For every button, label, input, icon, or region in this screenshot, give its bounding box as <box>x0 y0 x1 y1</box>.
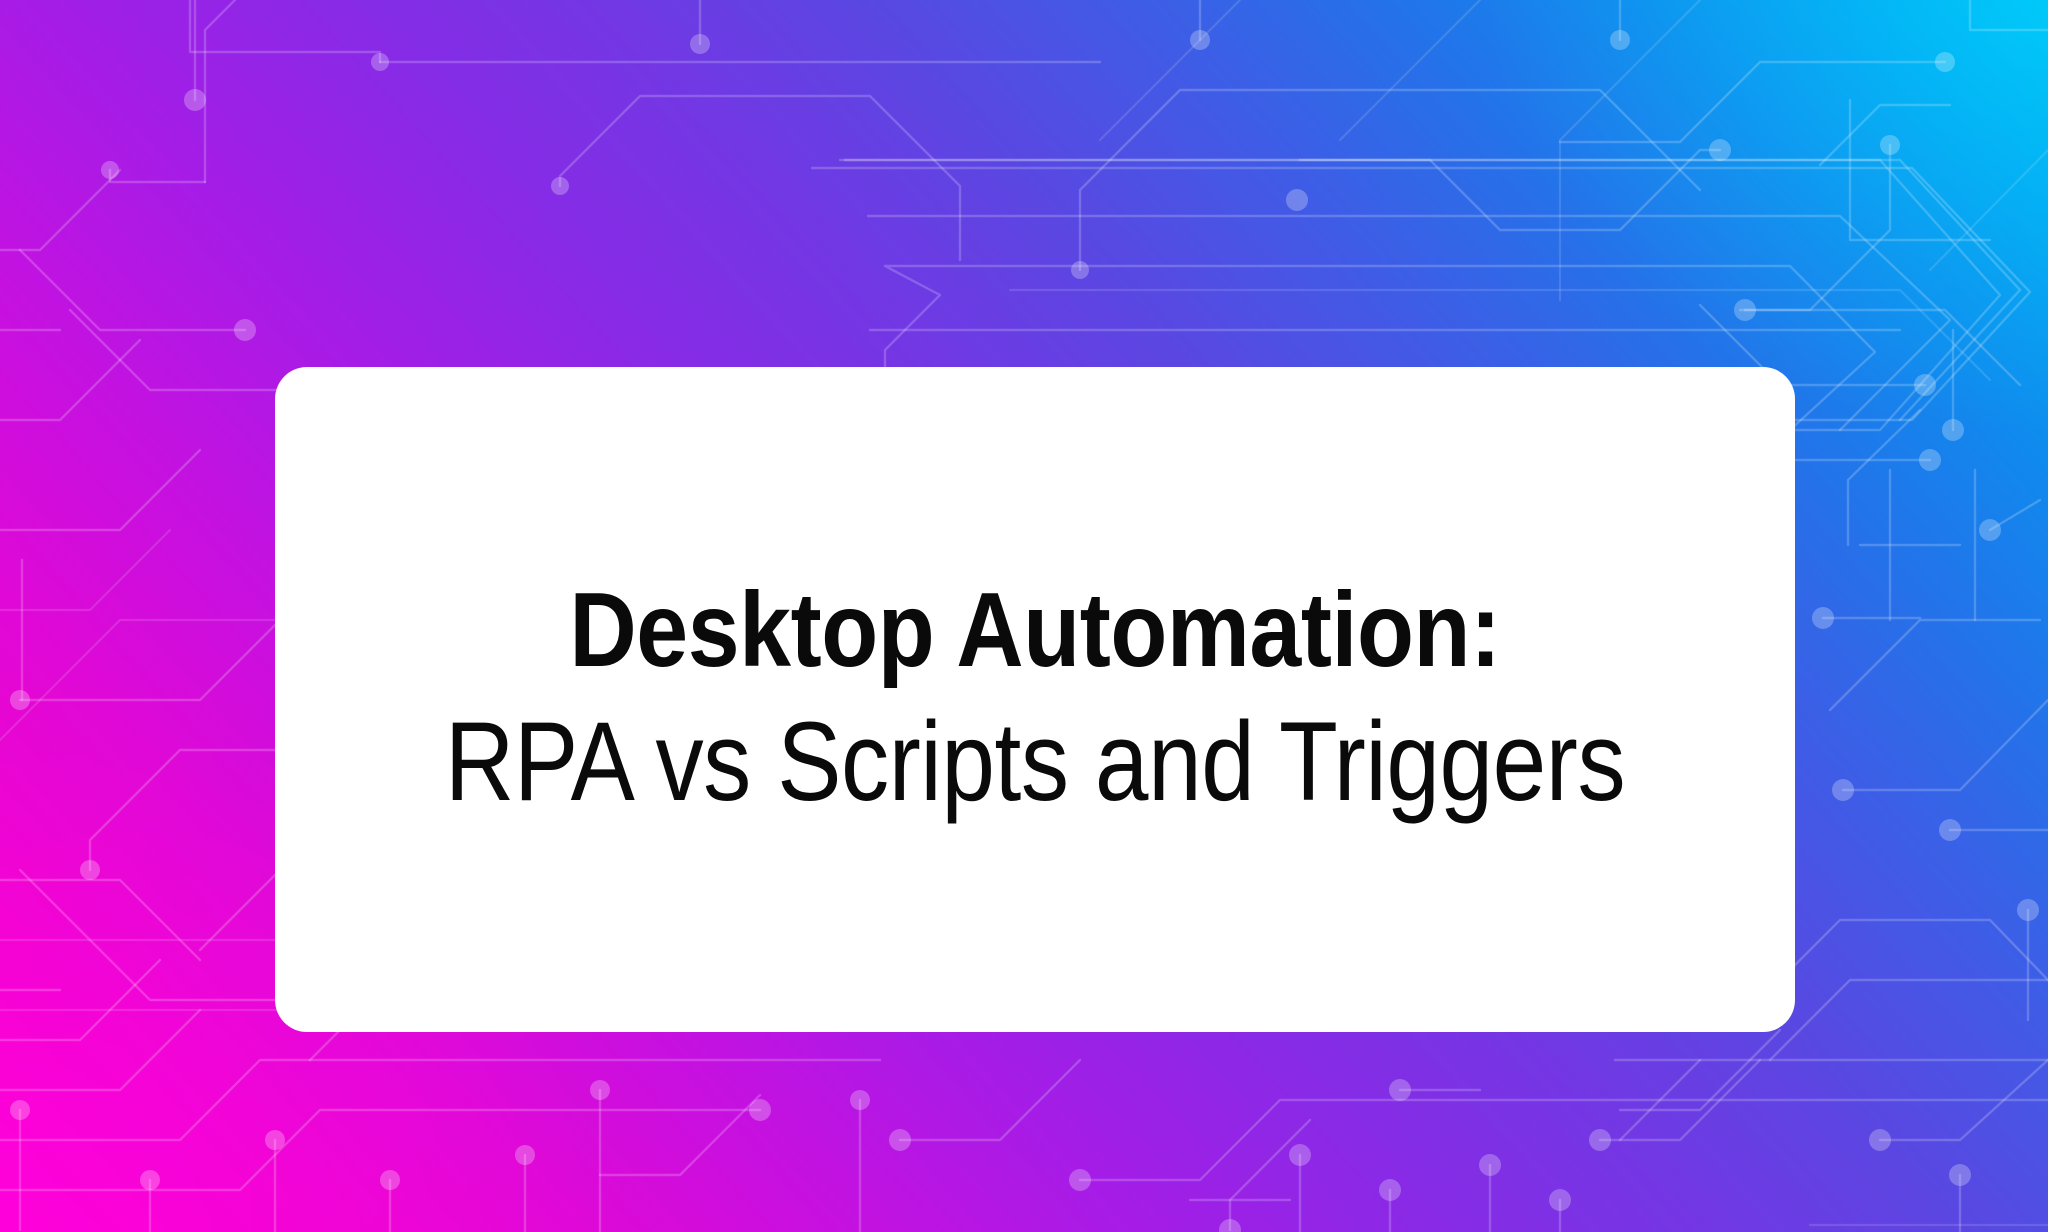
page-title-line-1: Desktop Automation: <box>401 571 1668 690</box>
banner-root: Desktop Automation: RPA vs Scripts and T… <box>0 0 2048 1232</box>
page-title-line-2: RPA vs Scripts and Triggers <box>416 696 1654 828</box>
content-card: Desktop Automation: RPA vs Scripts and T… <box>275 367 1795 1032</box>
title-block: Desktop Automation: RPA vs Scripts and T… <box>275 571 1795 828</box>
